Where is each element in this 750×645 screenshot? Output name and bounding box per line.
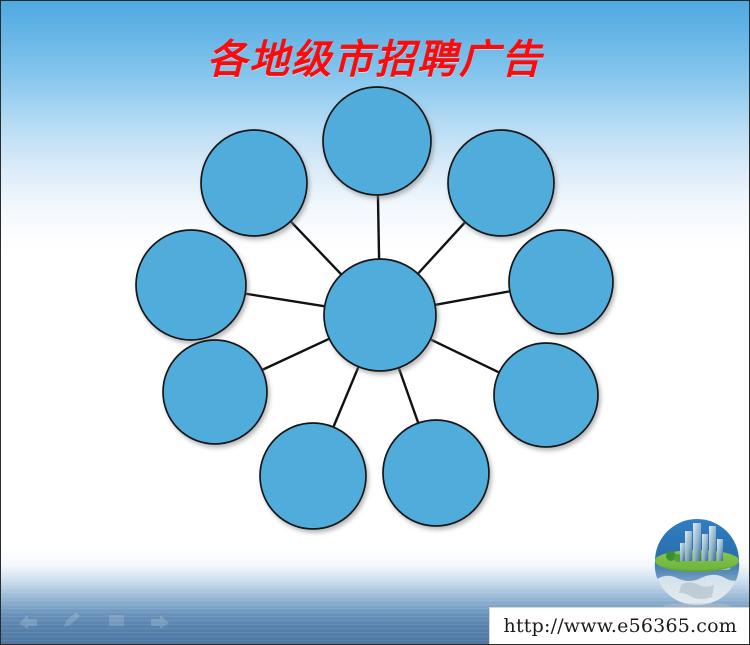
spoke-node-top-right [417,221,466,274]
watermark-url: http://www.e56365.com [504,615,737,637]
node-right[interactable] [509,230,613,334]
globe-city-logo [647,517,747,609]
node-left[interactable] [136,230,246,340]
spoke-node-bottom-right [430,339,501,373]
node-top-left[interactable] [201,130,307,236]
slide-canvas: 各地级市招聘广告 [0,0,750,645]
diagram-nodes [136,87,613,529]
watermark-bar: http://www.e56365.com [489,607,749,644]
spoke-node-bottom [333,366,359,428]
spoke-node-top-left [290,221,342,276]
node-bottom-right[interactable] [494,343,598,447]
spoke-node-bottom-2 [398,367,418,424]
hub-and-spoke-diagram [1,1,750,645]
spoke-node-left [244,294,325,307]
center-node[interactable] [324,259,436,371]
spoke-node-bottom-left [261,338,330,370]
node-bottom-left[interactable] [163,340,267,444]
node-bottom[interactable] [260,423,366,529]
node-top-right[interactable] [448,130,554,236]
spoke-node-top [378,194,379,260]
node-top[interactable] [323,87,431,195]
spoke-node-right [434,291,511,305]
node-bottom-2[interactable] [383,420,489,526]
